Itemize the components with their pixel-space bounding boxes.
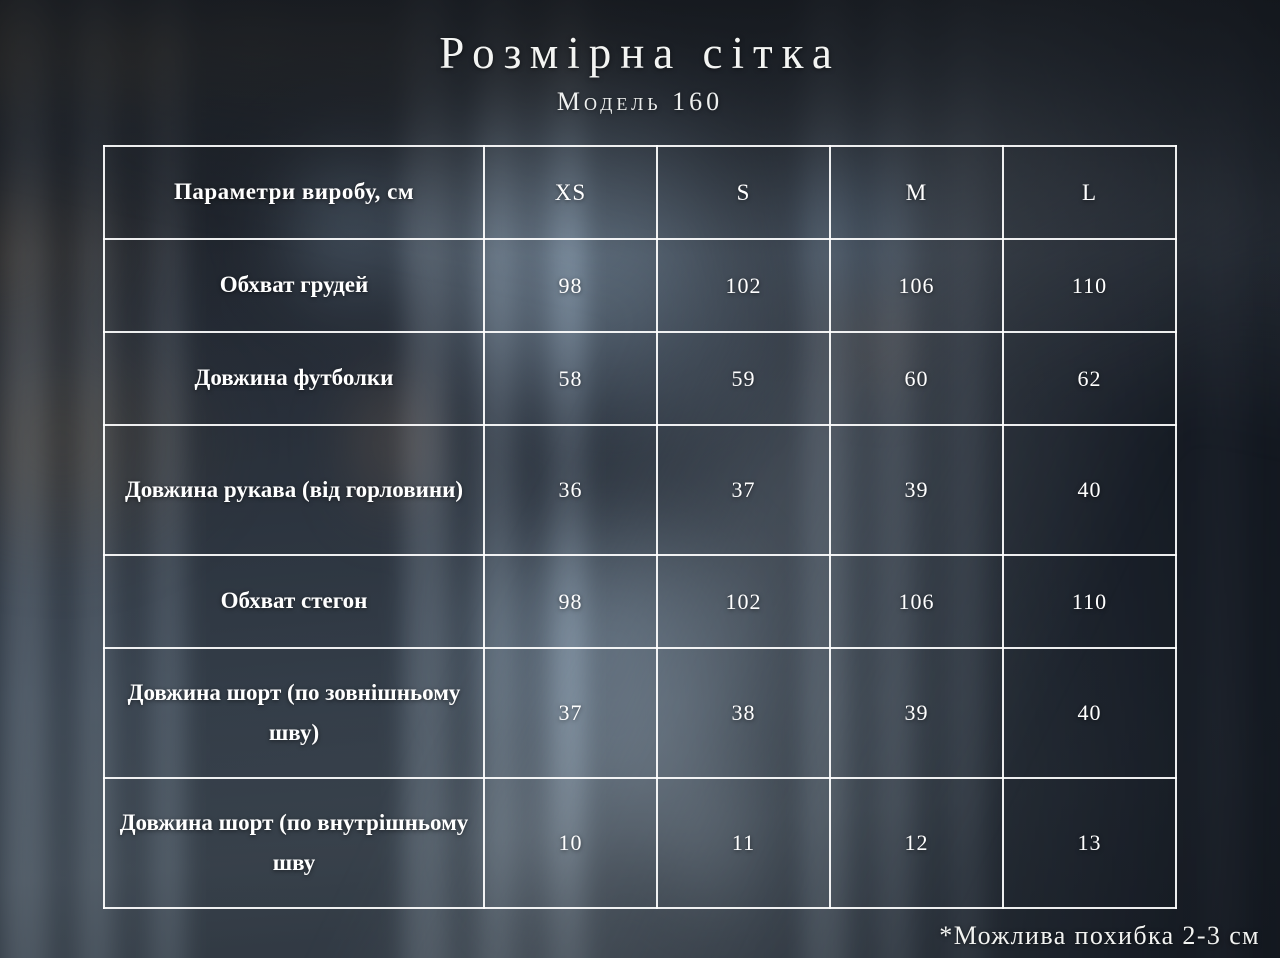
column-header-s: S xyxy=(657,146,830,239)
column-header-l: L xyxy=(1003,146,1176,239)
table-row: Обхват грудей 98 102 106 110 xyxy=(104,239,1176,332)
cell-xs: 98 xyxy=(484,239,657,332)
table-row: Довжина рукава (від горловини) 36 37 39 … xyxy=(104,425,1176,555)
cell-l: 40 xyxy=(1003,425,1176,555)
cell-m: 106 xyxy=(830,239,1003,332)
size-chart-image: Розмірна сітка Модель 160 Параметри виро… xyxy=(0,0,1280,958)
cell-s: 102 xyxy=(657,555,830,648)
cell-xs: 36 xyxy=(484,425,657,555)
cell-s: 59 xyxy=(657,332,830,425)
table-row: Обхват стегон 98 102 106 110 xyxy=(104,555,1176,648)
row-label: Довжина шорт (по внутрішньому шву xyxy=(104,778,484,908)
table-header-row: Параметри виробу, см XS S M L xyxy=(104,146,1176,239)
table-row: Довжина шорт (по зовнішньому шву) 37 38 … xyxy=(104,648,1176,778)
cell-s: 102 xyxy=(657,239,830,332)
row-label: Обхват грудей xyxy=(104,239,484,332)
row-label: Довжина рукава (від горловини) xyxy=(104,425,484,555)
cell-m: 12 xyxy=(830,778,1003,908)
page-subtitle: Модель 160 xyxy=(0,87,1280,117)
column-header-m: M xyxy=(830,146,1003,239)
cell-l: 110 xyxy=(1003,555,1176,648)
size-chart-table: Параметри виробу, см XS S M L Обхват гру… xyxy=(103,145,1177,909)
cell-xs: 37 xyxy=(484,648,657,778)
cell-m: 106 xyxy=(830,555,1003,648)
cell-xs: 10 xyxy=(484,778,657,908)
row-label: Обхват стегон xyxy=(104,555,484,648)
row-label: Довжина шорт (по зовнішньому шву) xyxy=(104,648,484,778)
cell-l: 110 xyxy=(1003,239,1176,332)
cell-m: 60 xyxy=(830,332,1003,425)
cell-xs: 98 xyxy=(484,555,657,648)
cell-m: 39 xyxy=(830,648,1003,778)
tolerance-footnote: *Можлива похибка 2-3 см xyxy=(939,921,1260,951)
cell-m: 39 xyxy=(830,425,1003,555)
cell-s: 37 xyxy=(657,425,830,555)
cell-s: 38 xyxy=(657,648,830,778)
title-block: Розмірна сітка Модель 160 xyxy=(0,28,1280,117)
table-row: Довжина шорт (по внутрішньому шву 10 11 … xyxy=(104,778,1176,908)
column-header-xs: XS xyxy=(484,146,657,239)
cell-s: 11 xyxy=(657,778,830,908)
cell-l: 62 xyxy=(1003,332,1176,425)
table-row: Довжина футболки 58 59 60 62 xyxy=(104,332,1176,425)
column-header-parameters: Параметри виробу, см xyxy=(104,146,484,239)
page-title: Розмірна сітка xyxy=(0,28,1280,78)
cell-xs: 58 xyxy=(484,332,657,425)
row-label: Довжина футболки xyxy=(104,332,484,425)
cell-l: 40 xyxy=(1003,648,1176,778)
cell-l: 13 xyxy=(1003,778,1176,908)
